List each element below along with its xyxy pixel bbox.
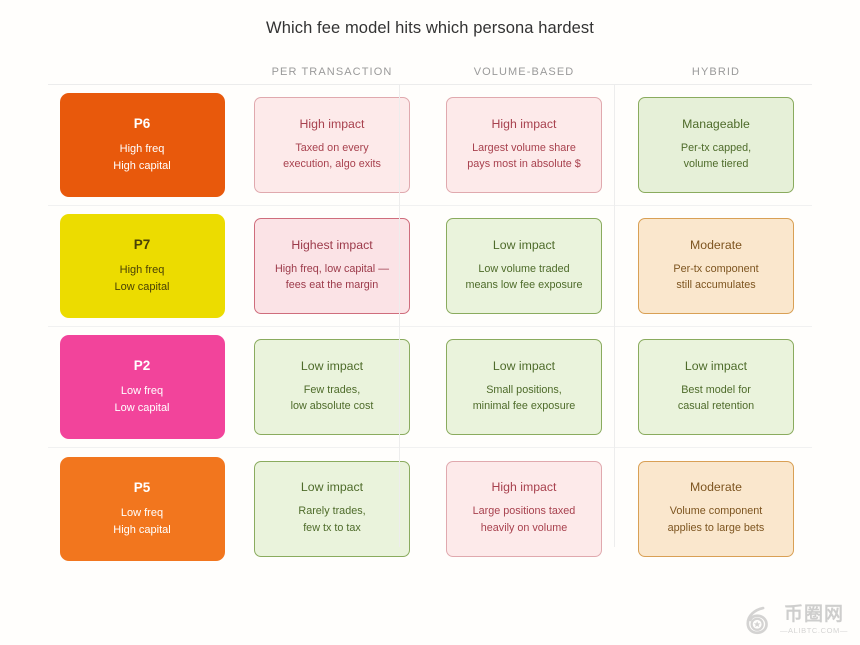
- infographic-page: Which fee model hits which persona harde…: [0, 0, 860, 645]
- impact-card[interactable]: High impact Large positions taxed heavil…: [446, 461, 602, 557]
- persona-freq: High freq: [120, 262, 165, 279]
- header-persona: [48, 78, 236, 84]
- impact-detail-line2: execution, algo exits: [283, 156, 381, 173]
- impact-detail-line1: Rarely trades,: [298, 503, 365, 520]
- impact-verdict: High impact: [492, 480, 557, 496]
- impact-verdict: Low impact: [685, 359, 747, 375]
- impact-detail-line2: volume tiered: [684, 156, 749, 173]
- column-divider-1: [399, 85, 400, 547]
- header-volume-based: VOLUME-BASED: [428, 66, 620, 84]
- impact-verdict: Moderate: [690, 480, 742, 496]
- watermark: 币圈网 —ALIBTC.COM—: [741, 603, 848, 637]
- persona-cell: P2 Low freq Low capital: [48, 327, 236, 448]
- impact-card[interactable]: Low impact Rarely trades, few tx to tax: [254, 461, 410, 557]
- impact-detail-line2: pays most in absolute $: [467, 156, 580, 173]
- impact-verdict: Low impact: [493, 238, 555, 254]
- persona-chip-p7[interactable]: P7 High freq Low capital: [60, 214, 225, 318]
- impact-cell: High impact Largest volume share pays mo…: [428, 85, 620, 206]
- impact-cell: Low impact Best model for casual retenti…: [620, 327, 812, 448]
- persona-capital: High capital: [113, 158, 170, 175]
- persona-id: P5: [134, 478, 151, 499]
- impact-card[interactable]: Low impact Small positions, minimal fee …: [446, 339, 602, 435]
- impact-verdict: Low impact: [493, 359, 555, 375]
- watermark-url: —ALIBTC.COM—: [780, 627, 848, 635]
- page-title: Which fee model hits which persona harde…: [0, 0, 860, 38]
- impact-card[interactable]: Low impact Few trades, low absolute cost: [254, 339, 410, 435]
- alibtc-logo-icon: [741, 603, 775, 637]
- impact-detail-line1: Best model for: [681, 382, 751, 399]
- impact-detail-line2: means low fee exposure: [465, 277, 582, 294]
- impact-detail-line1: Per-tx component: [673, 261, 758, 278]
- impact-detail-line1: Low volume traded: [478, 261, 569, 278]
- persona-cell: P6 High freq High capital: [48, 85, 236, 206]
- impact-detail-line2: fees eat the margin: [286, 277, 378, 294]
- impact-verdict: Low impact: [301, 480, 363, 496]
- impact-detail-line2: low absolute cost: [291, 398, 374, 415]
- persona-freq: High freq: [120, 141, 165, 158]
- matrix-body: P6 High freq High capital High impact Ta…: [48, 85, 812, 569]
- persona-id: P6: [134, 114, 151, 135]
- matrix-row: P6 High freq High capital High impact Ta…: [48, 85, 812, 206]
- impact-detail-line2: casual retention: [678, 398, 754, 415]
- impact-verdict: Low impact: [301, 359, 363, 375]
- impact-verdict: High impact: [300, 117, 365, 133]
- impact-verdict: Moderate: [690, 238, 742, 254]
- impact-detail-line1: Per-tx capped,: [681, 140, 751, 157]
- impact-card[interactable]: High impact Largest volume share pays mo…: [446, 97, 602, 193]
- watermark-brand: 币圈网: [784, 605, 844, 624]
- impact-detail-line2: still accumulates: [676, 277, 755, 294]
- impact-detail-line1: Volume component: [670, 503, 762, 520]
- persona-capital: Low capital: [114, 400, 169, 417]
- persona-id: P7: [134, 235, 151, 256]
- persona-freq: Low freq: [121, 383, 163, 400]
- persona-capital: Low capital: [114, 279, 169, 296]
- impact-card[interactable]: Manageable Per-tx capped, volume tiered: [638, 97, 794, 193]
- impact-cell: Low impact Low volume traded means low f…: [428, 206, 620, 327]
- watermark-text: 币圈网 —ALIBTC.COM—: [780, 605, 848, 635]
- impact-detail-line1: Largest volume share: [472, 140, 576, 157]
- impact-card[interactable]: High impact Taxed on every execution, al…: [254, 97, 410, 193]
- impact-detail-line2: applies to large bets: [668, 520, 765, 537]
- impact-cell: Low impact Small positions, minimal fee …: [428, 327, 620, 448]
- impact-detail-line1: Small positions,: [486, 382, 562, 399]
- impact-card[interactable]: Low impact Low volume traded means low f…: [446, 218, 602, 314]
- persona-cell: P5 Low freq High capital: [48, 448, 236, 569]
- impact-cell: Moderate Per-tx component still accumula…: [620, 206, 812, 327]
- persona-chip-p5[interactable]: P5 Low freq High capital: [60, 457, 225, 561]
- impact-verdict: Highest impact: [291, 238, 372, 254]
- impact-card[interactable]: Moderate Volume component applies to lar…: [638, 461, 794, 557]
- matrix-row: P7 High freq Low capital Highest impact …: [48, 206, 812, 327]
- column-divider-2: [614, 85, 615, 547]
- header-hybrid: HYBRID: [620, 66, 812, 84]
- impact-detail-line2: minimal fee exposure: [473, 398, 576, 415]
- matrix-header-row: PER TRANSACTION VOLUME-BASED HYBRID: [48, 54, 812, 84]
- impact-detail-line1: Few trades,: [304, 382, 360, 399]
- impact-cell: High impact Large positions taxed heavil…: [428, 448, 620, 569]
- header-per-transaction: PER TRANSACTION: [236, 66, 428, 84]
- impact-detail-line2: few tx to tax: [303, 520, 361, 537]
- impact-card[interactable]: Low impact Best model for casual retenti…: [638, 339, 794, 435]
- impact-card[interactable]: Moderate Per-tx component still accumula…: [638, 218, 794, 314]
- impact-card[interactable]: Highest impact High freq, low capital — …: [254, 218, 410, 314]
- persona-capital: High capital: [113, 522, 170, 539]
- impact-verdict: Manageable: [682, 117, 750, 133]
- persona-id: P2: [134, 356, 151, 377]
- matrix-row: P5 Low freq High capital Low impact Rare…: [48, 448, 812, 569]
- impact-detail-line1: High freq, low capital —: [275, 261, 389, 278]
- persona-chip-p6[interactable]: P6 High freq High capital: [60, 93, 225, 197]
- impact-cell: Manageable Per-tx capped, volume tiered: [620, 85, 812, 206]
- impact-cell: Moderate Volume component applies to lar…: [620, 448, 812, 569]
- impact-verdict: High impact: [492, 117, 557, 133]
- impact-detail-line1: Taxed on every: [295, 140, 368, 157]
- matrix-row: P2 Low freq Low capital Low impact Few t…: [48, 327, 812, 448]
- impact-detail-line2: heavily on volume: [481, 520, 567, 537]
- impact-detail-line1: Large positions taxed: [473, 503, 576, 520]
- persona-cell: P7 High freq Low capital: [48, 206, 236, 327]
- persona-freq: Low freq: [121, 505, 163, 522]
- persona-chip-p2[interactable]: P2 Low freq Low capital: [60, 335, 225, 439]
- comparison-matrix: PER TRANSACTION VOLUME-BASED HYBRID P6 H…: [48, 54, 812, 569]
